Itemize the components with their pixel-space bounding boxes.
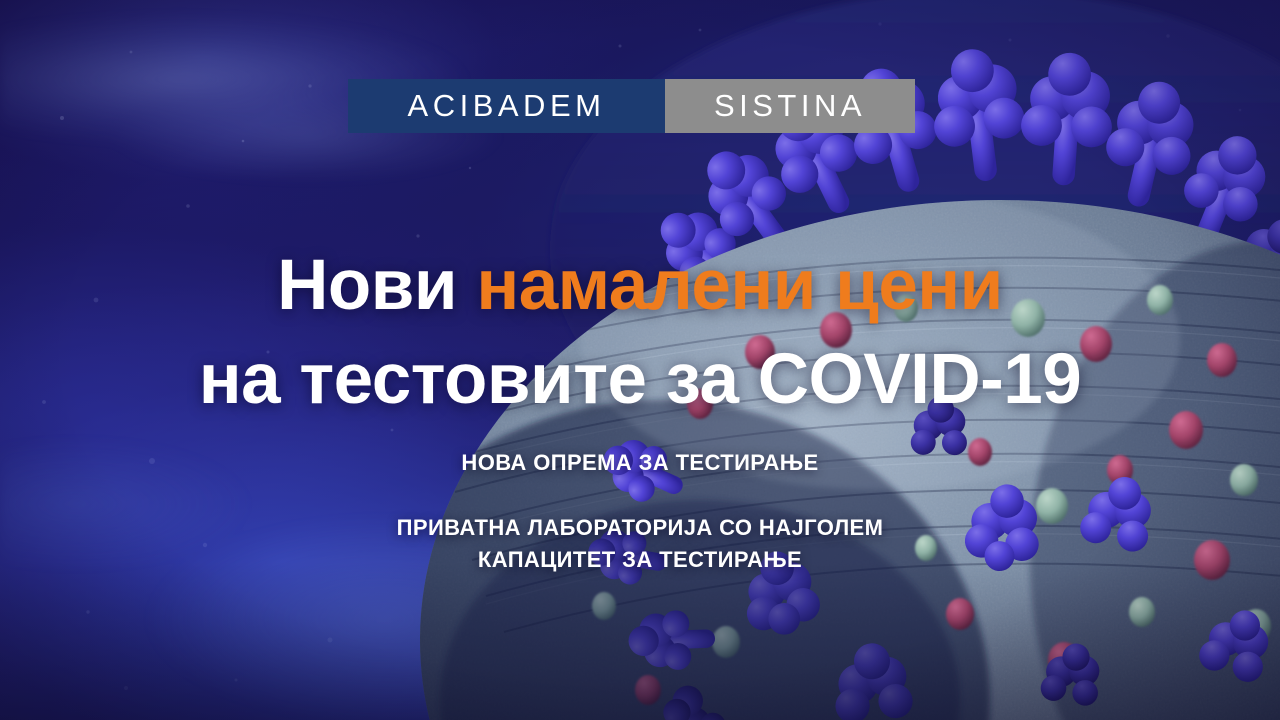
headline-accent-text: намалени цени: [476, 246, 1003, 325]
headline-line-1: Нови намалени цени: [0, 239, 1280, 333]
subtitle-capacity: ПРИВАТНА ЛАБОРАТОРИЈА СО НАЈГОЛЕМ КАПАЦИ…: [0, 512, 1280, 576]
banner-content: Нови намалени цени на тестовите за COVID…: [0, 0, 1280, 720]
subtitle-capacity-line-2: КАПАЦИТЕТ ЗА ТЕСТИРАЊЕ: [0, 544, 1280, 576]
subtitle-block: НОВА ОПРЕМА ЗА ТЕСТИРАЊЕ ПРИВАТНА ЛАБОРА…: [0, 452, 1280, 576]
promo-banner: ACIBADEM SISTINA Нови намалени цени на т…: [0, 0, 1280, 720]
headline-line-2: на тестовите за COVID-19: [0, 333, 1280, 427]
headline-plain-text: Нови: [277, 246, 476, 325]
headline: Нови намалени цени на тестовите за COVID…: [0, 239, 1280, 426]
subtitle-capacity-line-1: ПРИВАТНА ЛАБОРАТОРИЈА СО НАЈГОЛЕМ: [0, 512, 1280, 544]
subtitle-equipment: НОВА ОПРЕМА ЗА ТЕСТИРАЊЕ: [0, 452, 1280, 474]
